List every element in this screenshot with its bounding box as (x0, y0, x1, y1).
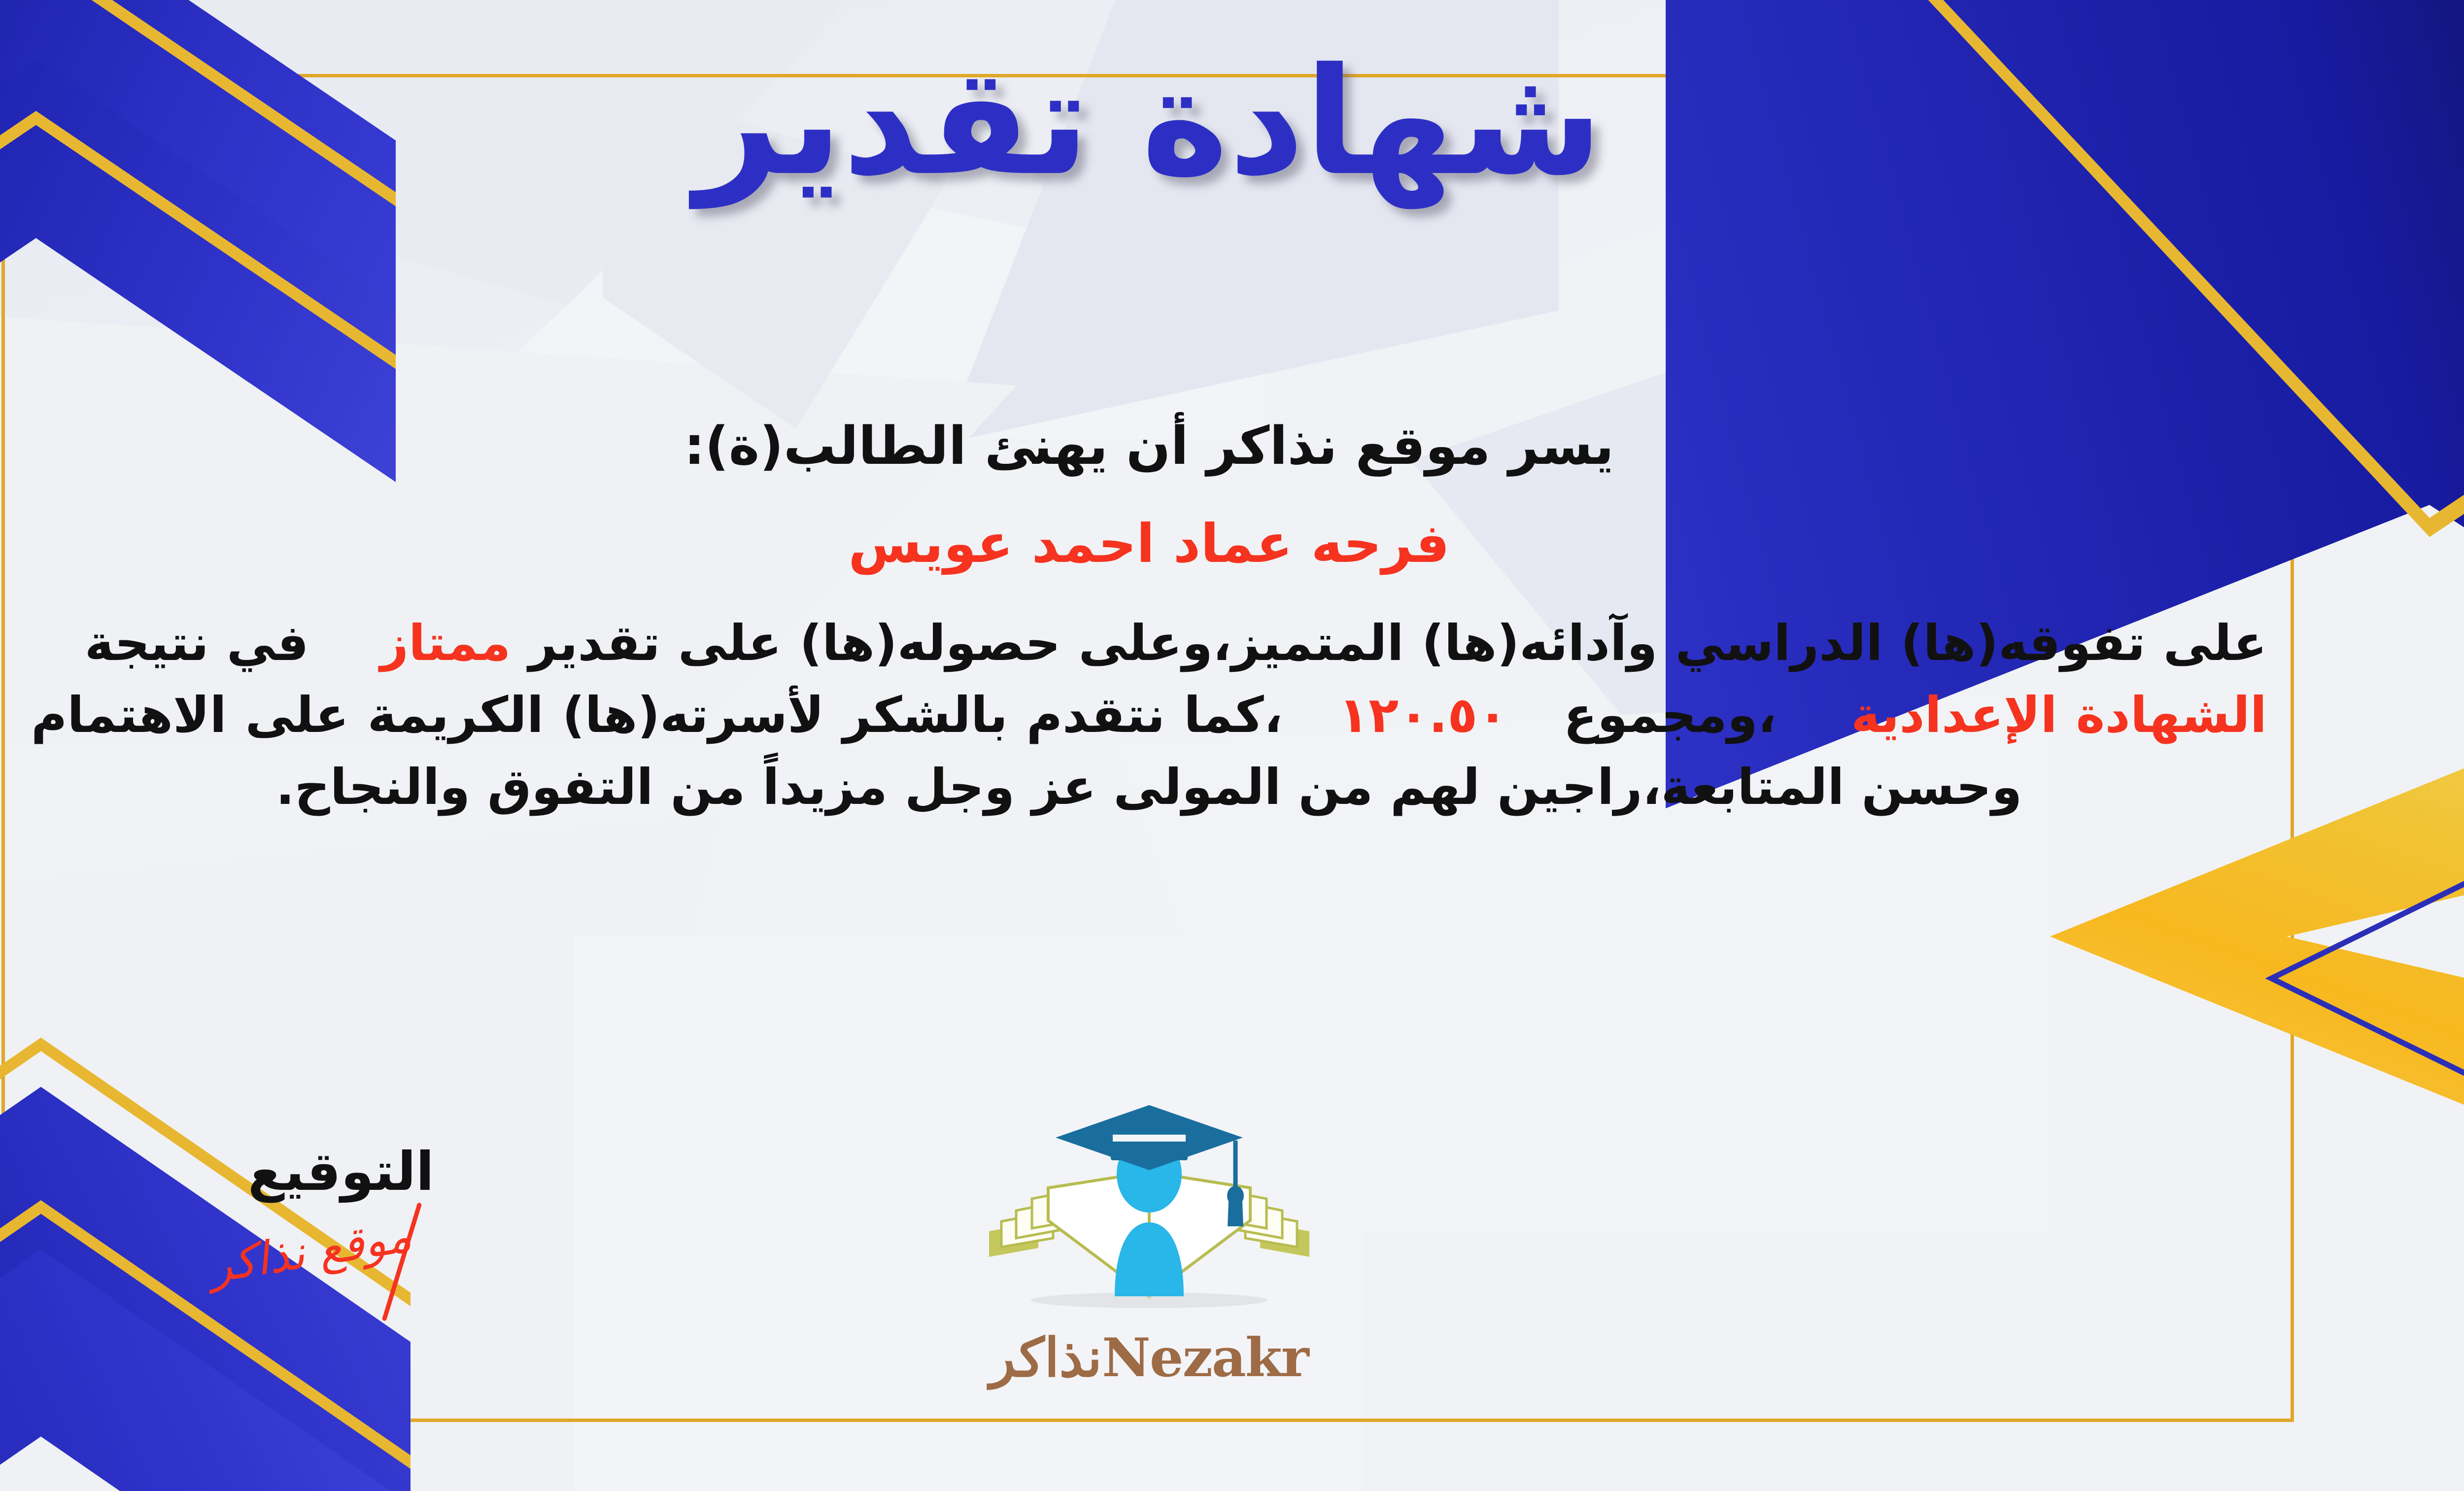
certificate-title: شهادة تقدير (0, 44, 2464, 200)
logo-brand-arabic: نذاكر (990, 1327, 1102, 1389)
body-part-1: على تفوقه(ها) الدراسي وآدائه(ها) المتميز… (529, 614, 2267, 672)
body-part-3: ،ومجموع (1564, 686, 1777, 744)
exam-name: الشهادة الإعدادية (1851, 686, 2267, 744)
grade-value: ممتاز (380, 614, 511, 672)
certificate-body: يسر موقع نذاكر أن يهنئ الطالب(ة): فرحه ع… (11, 409, 2287, 823)
achievement-paragraph: على تفوقه(ها) الدراسي وآدائه(ها) المتميز… (11, 607, 2287, 823)
graduate-book-icon (947, 1099, 1351, 1331)
total-score: ١٢٠.٥٠ (1338, 686, 1507, 744)
signature-label: التوقيع (248, 1141, 434, 1203)
signature-script: موقع نذاكر (205, 1209, 415, 1293)
certificate-content: شهادة تقدير يسر موقع نذاكر أن يهنئ الطال… (0, 0, 2464, 1491)
logo-brand-latin: Nezakr (1102, 1327, 1308, 1389)
body-part-2: في نتيجة (85, 614, 309, 672)
greeting-line: يسر موقع نذاكر أن يهنئ الطالب(ة): (11, 409, 2287, 484)
nezakr-logo: Nezakrنذاكر (947, 1099, 1351, 1405)
student-name: فرحه عماد احمد عويس (11, 506, 2287, 582)
certificate-page: شهادة تقدير يسر موقع نذاكر أن يهنئ الطال… (0, 0, 2464, 1491)
logo-wordmark: Nezakrنذاكر (947, 1327, 1351, 1389)
